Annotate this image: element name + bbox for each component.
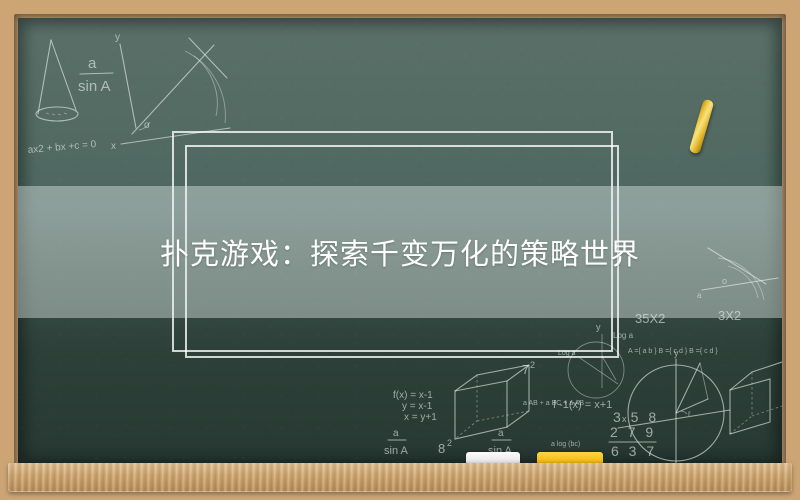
- chalk-ledge: [8, 463, 792, 492]
- chalkboard-surface: a sin A y x o ax2 + bx +c = 0: [18, 18, 782, 465]
- chalkboard-banner: a sin A y x o ax2 + bx +c = 0: [0, 0, 800, 500]
- banner-title-container: 扑克游戏：探索千变万化的策略世界: [18, 186, 782, 318]
- page-title: 扑克游戏：探索千变万化的策略世界: [160, 231, 640, 273]
